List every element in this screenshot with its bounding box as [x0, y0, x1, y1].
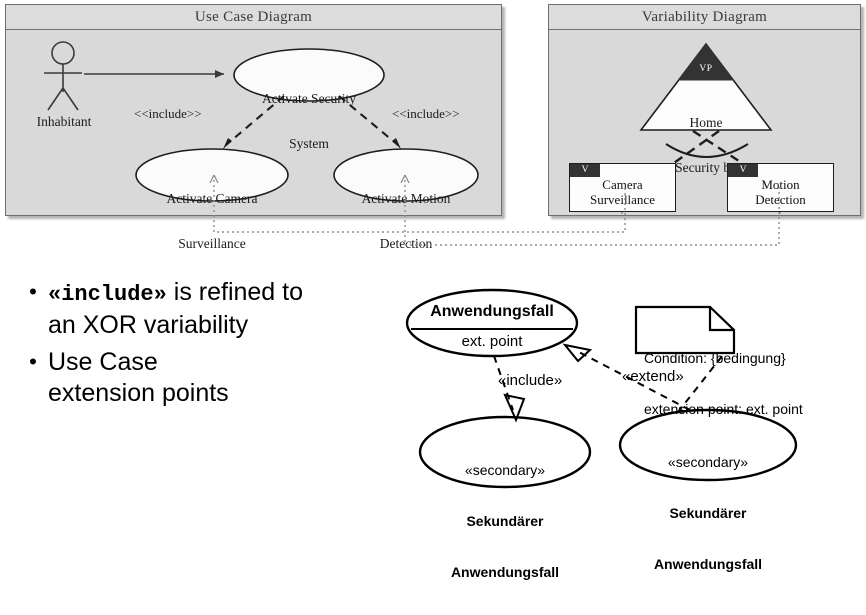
note-line-2: extension point: ext. point: [644, 401, 803, 418]
secondary-use-case-extend-label: «secondary» Sekundärer Anwendungsfall: [626, 420, 790, 607]
bullet-line2-1: an XOR variability: [48, 310, 303, 341]
secondary-extend-line1: Sekundärer: [626, 505, 790, 522]
secondary-include-line2: Anwendungsfall: [425, 564, 585, 581]
bullet-text-2: Use Case extension points: [48, 347, 229, 409]
list-item: • Use Case extension points: [18, 347, 418, 409]
secondary-use-case-include-label: «secondary» Sekundärer Anwendungsfall: [425, 428, 585, 615]
bullet-text-1: «include» is refined to an XOR variabili…: [48, 277, 303, 341]
secondary-extend-stereotype: «secondary»: [626, 454, 790, 471]
extend-arrowhead: [565, 345, 590, 361]
secondary-extend-line2: Anwendungsfall: [626, 556, 790, 573]
bullet-stereotype-include: «include»: [48, 282, 167, 307]
list-item: • «include» is refined to an XOR variabi…: [18, 277, 418, 341]
relation-label-extend: «extend»: [622, 368, 684, 385]
relation-label-include: «include»: [498, 372, 562, 389]
extension-points-diagram: Anwendungsfall ext. point Condition: {be…: [400, 280, 866, 503]
trace-motion-detection: [405, 175, 779, 245]
bullet-line2-2: extension points: [48, 378, 229, 409]
secondary-include-line1: Sekundärer: [425, 513, 585, 530]
secondary-include-stereotype: «secondary»: [425, 462, 585, 479]
bullet-marker-icon: •: [18, 277, 48, 307]
bullet-marker-icon: •: [18, 347, 48, 377]
primary-use-case-extension-point: ext. point: [422, 333, 562, 350]
bullet-rest-2: Use Case: [48, 348, 158, 376]
trace-camera-surveillance: [214, 175, 625, 232]
primary-use-case-name: Anwendungsfall: [422, 303, 562, 321]
note-line-1: Condition: {bedingung}: [644, 350, 803, 367]
slide-canvas: Use Case Diagram: [0, 0, 866, 503]
bullet-rest-1: is refined to: [167, 278, 303, 306]
bullet-list: • «include» is refined to an XOR variabi…: [18, 277, 418, 415]
